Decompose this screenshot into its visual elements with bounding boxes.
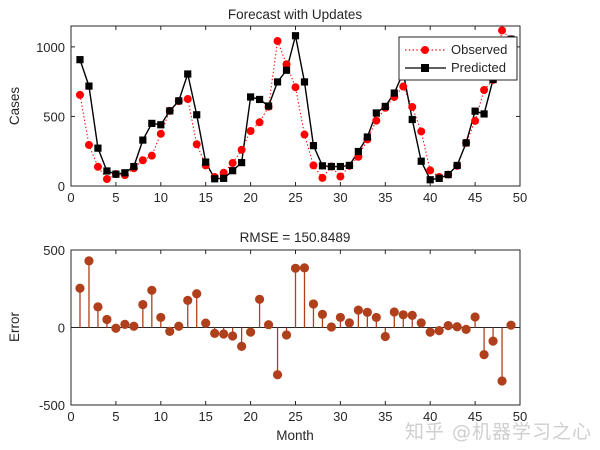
predicted-point (436, 175, 443, 182)
predicted-point (166, 107, 173, 114)
predicted-point (139, 136, 146, 143)
error-stem-marker (309, 299, 318, 308)
observed-point (318, 174, 326, 182)
x-tick-label: 35 (378, 409, 392, 424)
observed-point (309, 161, 317, 169)
x-tick-label: 5 (112, 190, 119, 205)
predicted-point (85, 83, 92, 90)
error-stem-marker (264, 320, 273, 329)
error-stem-marker (228, 331, 237, 340)
predicted-point (256, 96, 263, 103)
error-stem-marker (138, 300, 147, 309)
x-tick-label: 10 (154, 190, 168, 205)
predicted-point (121, 169, 128, 176)
observed-point (336, 173, 344, 181)
observed-point (498, 26, 506, 34)
error-stem-marker (390, 307, 399, 316)
predicted-point (130, 163, 137, 170)
error-stem-marker (435, 326, 444, 335)
error-stem-marker (165, 327, 174, 336)
error-stem-marker (237, 342, 246, 351)
predicted-point (274, 78, 281, 85)
predicted-point (112, 171, 119, 178)
error-stem-marker (219, 329, 228, 338)
error-stem-marker (93, 302, 102, 311)
y-tick-label: 500 (43, 243, 65, 258)
predicted-point (283, 67, 290, 74)
error-stem-marker (381, 332, 390, 341)
observed-point (399, 83, 407, 91)
error-stem-marker (336, 313, 345, 322)
predicted-point (346, 162, 353, 169)
error-stem-marker (255, 295, 264, 304)
observed-point (229, 159, 237, 167)
predicted-point (337, 163, 344, 170)
predicted-point (265, 102, 272, 109)
predicted-point (373, 109, 380, 116)
observed-point (76, 91, 84, 99)
error-stem-marker (120, 320, 129, 329)
x-tick-label: 10 (154, 409, 168, 424)
error-stem-marker (111, 324, 120, 333)
predicted-point (382, 103, 389, 110)
watermark: 知乎 @机器学习之心 (405, 417, 592, 444)
error-stem-marker (282, 330, 291, 339)
predicted-point (454, 162, 461, 169)
predicted-point (319, 162, 326, 169)
predicted-point (418, 158, 425, 165)
error-stem-marker (453, 322, 462, 331)
observed-point (193, 140, 201, 148)
x-tick-label: 50 (513, 190, 527, 205)
predicted-point (157, 121, 164, 128)
observed-point (300, 131, 308, 139)
predicted-point (229, 167, 236, 174)
predicted-point (238, 159, 245, 166)
error-stem-marker (291, 264, 300, 273)
forecast-y-axis-label: Cases (7, 87, 22, 126)
predicted-point (220, 175, 227, 182)
error-stem-marker (246, 328, 255, 337)
x-tick-label: 0 (67, 190, 74, 205)
predicted-point (328, 163, 335, 170)
predicted-point (94, 145, 101, 152)
predicted-point (472, 108, 479, 115)
x-tick-label: 15 (198, 190, 212, 205)
observed-point (426, 166, 434, 174)
error-stem-marker (444, 321, 453, 330)
predicted-point (310, 142, 317, 149)
predicted-point (301, 78, 308, 85)
observed-point (417, 127, 425, 135)
error-stem-marker (300, 263, 309, 272)
error-stem-marker (345, 318, 354, 327)
x-tick-label: 25 (288, 409, 302, 424)
forecast-legend[interactable]: Observed Predicted (399, 37, 517, 80)
observed-point (94, 163, 102, 171)
error-stem-marker (201, 319, 210, 328)
legend-predicted-marker (421, 64, 429, 72)
observed-point (238, 146, 246, 154)
predicted-point (148, 120, 155, 127)
error-stem-marker (479, 350, 488, 359)
observed-point (292, 83, 300, 91)
error-stem-marker (273, 370, 282, 379)
observed-point (247, 127, 255, 135)
error-stem-marker (488, 337, 497, 346)
observed-point (256, 118, 264, 126)
legend-predicted-label: Predicted (451, 60, 506, 75)
observed-point (85, 141, 93, 149)
error-stem-marker (426, 328, 435, 337)
x-tick-label: 40 (423, 190, 437, 205)
y-tick-label: 0 (58, 179, 65, 194)
predicted-point (247, 93, 254, 100)
x-tick-label: 5 (112, 409, 119, 424)
predicted-point (364, 133, 371, 140)
error-stem-marker (372, 313, 381, 322)
forecast-title: Forecast with Updates (228, 7, 363, 22)
predicted-point (175, 97, 182, 104)
error-stem-marker (192, 289, 201, 298)
predicted-point (103, 167, 110, 174)
y-tick-label: 1000 (36, 40, 65, 55)
error-stem-marker (174, 322, 183, 331)
x-tick-label: 20 (243, 409, 257, 424)
observed-point (480, 86, 488, 94)
observed-point (408, 103, 416, 111)
error-stem-marker (471, 312, 480, 321)
observed-point (139, 156, 147, 164)
error-stem-marker (417, 318, 426, 327)
error-x-axis-label: Month (276, 428, 314, 443)
predicted-point (445, 171, 452, 178)
error-stem-marker (129, 322, 138, 331)
legend-observed-marker (421, 46, 429, 54)
x-tick-label: 15 (198, 409, 212, 424)
observed-point (274, 37, 282, 45)
x-tick-label: 20 (243, 190, 257, 205)
error-stem-marker (210, 329, 219, 338)
predicted-point (211, 175, 218, 182)
predicted-point (184, 70, 191, 77)
observed-point (103, 175, 111, 183)
predicted-point (427, 176, 434, 183)
predicted-point (76, 56, 83, 63)
error-stem-marker (327, 322, 336, 331)
predicted-point (193, 111, 200, 118)
error-stem-marker (354, 306, 363, 315)
x-tick-label: 30 (333, 190, 347, 205)
x-tick-label: 30 (333, 409, 347, 424)
error-stem-marker (399, 310, 408, 319)
error-stem-marker (363, 308, 372, 317)
error-stem-marker (102, 315, 111, 324)
observed-point (148, 152, 156, 160)
predicted-point (391, 89, 398, 96)
error-stem-marker (506, 321, 515, 330)
matlab-figure: Forecast with Updates Cases 051015202530… (0, 0, 600, 450)
x-tick-label: 35 (378, 190, 392, 205)
error-stem-marker (147, 286, 156, 295)
error-stem-marker (497, 376, 506, 385)
legend-observed-label: Observed (451, 42, 507, 57)
error-stem-marker (462, 325, 471, 334)
error-stem-marker (75, 284, 84, 293)
error-stem-marker (84, 256, 93, 265)
observed-point (184, 95, 192, 103)
x-tick-label: 0 (67, 409, 74, 424)
predicted-point (463, 139, 470, 146)
y-tick-label: 500 (43, 109, 65, 124)
predicted-point (202, 158, 209, 165)
error-stem-marker (183, 296, 192, 305)
predicted-point (480, 110, 487, 117)
rmse-title: RMSE = 150.8489 (240, 230, 351, 245)
error-stem-marker (408, 311, 417, 320)
x-tick-label: 45 (468, 190, 482, 205)
observed-point (471, 117, 479, 125)
error-y-axis-label: Error (7, 311, 22, 342)
error-stem-marker (318, 310, 327, 319)
error-stem-marker (156, 313, 165, 322)
predicted-point (355, 148, 362, 155)
observed-point (372, 117, 380, 125)
observed-point (157, 130, 165, 138)
y-tick-label: 0 (58, 321, 65, 336)
x-tick-label: 25 (288, 190, 302, 205)
predicted-point (409, 116, 416, 123)
predicted-point (292, 32, 299, 39)
figure-svg: Forecast with Updates Cases 051015202530… (0, 0, 600, 450)
y-tick-label: -500 (39, 398, 65, 413)
